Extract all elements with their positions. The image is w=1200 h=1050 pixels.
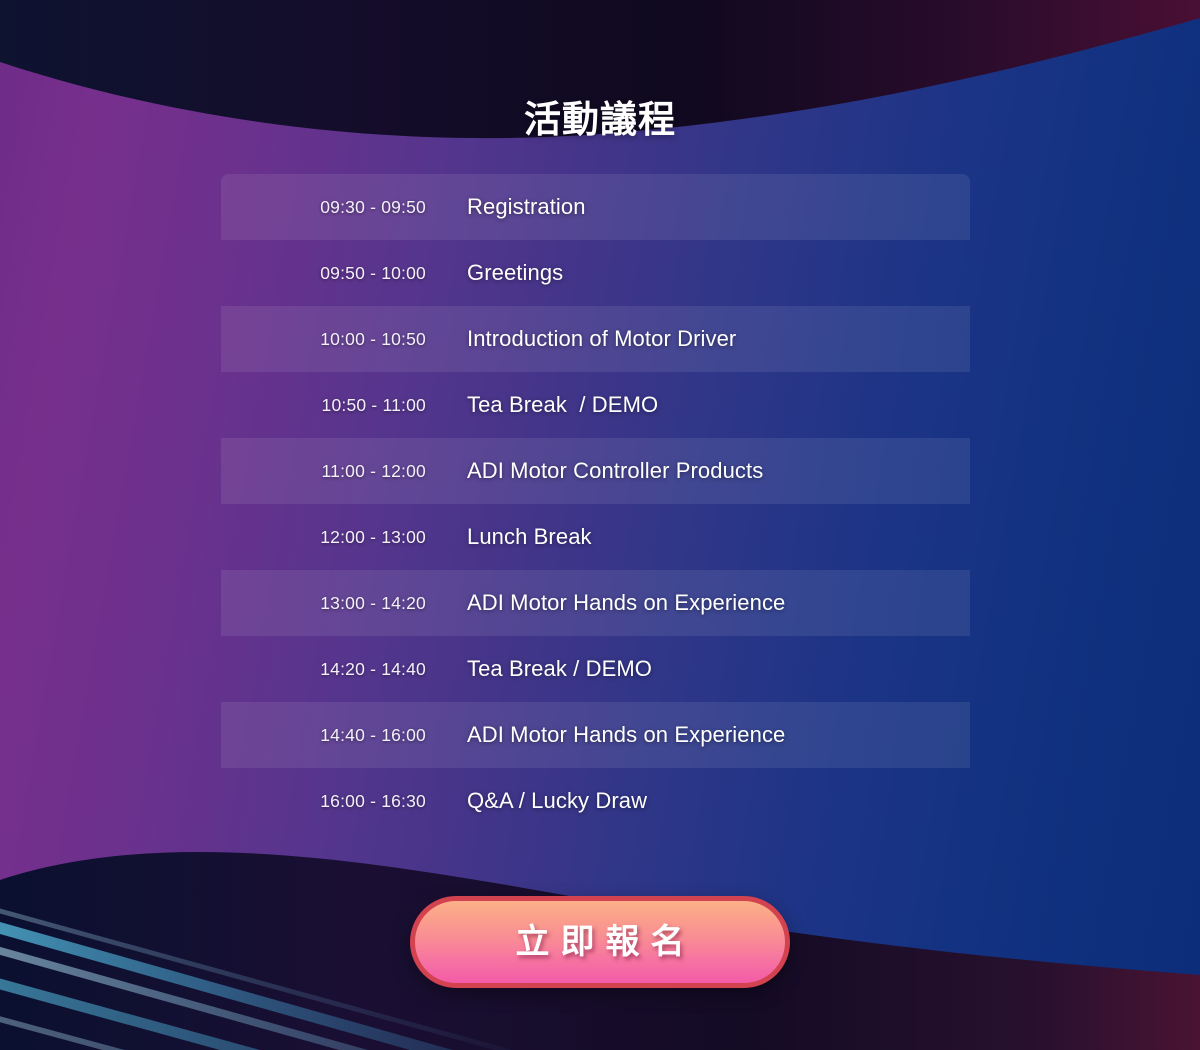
agenda-row-time: 14:40 - 16:00 xyxy=(221,725,467,746)
agenda-row-time: 13:00 - 14:20 xyxy=(221,593,467,614)
agenda-row-time: 10:00 - 10:50 xyxy=(221,329,467,350)
agenda-row-title: ADI Motor Hands on Experience xyxy=(467,722,970,748)
cta-container: 立即報名 xyxy=(0,896,1200,988)
agenda-row-title: ADI Motor Hands on Experience xyxy=(467,590,970,616)
agenda-row: 14:20 - 14:40Tea Break / DEMO xyxy=(221,636,970,702)
agenda-row-time: 16:00 - 16:30 xyxy=(221,791,467,812)
agenda-row: 09:50 - 10:00Greetings xyxy=(221,240,970,306)
agenda-row: 09:30 - 09:50Registration xyxy=(221,174,970,240)
agenda-row: 13:00 - 14:20ADI Motor Hands on Experien… xyxy=(221,570,970,636)
agenda-row-time: 14:20 - 14:40 xyxy=(221,659,467,680)
register-now-button[interactable]: 立即報名 xyxy=(410,896,790,988)
agenda-row: 12:00 - 13:00Lunch Break xyxy=(221,504,970,570)
agenda-row-title: Registration xyxy=(467,194,970,220)
agenda-row-time: 09:30 - 09:50 xyxy=(221,197,467,218)
agenda-table: 09:30 - 09:50Registration09:50 - 10:00Gr… xyxy=(221,174,970,834)
agenda-poster: 活動議程 09:30 - 09:50Registration09:50 - 10… xyxy=(0,0,1200,1050)
register-now-label: 立即報名 xyxy=(505,925,696,959)
agenda-row-title: Introduction of Motor Driver xyxy=(467,326,970,352)
agenda-row-time: 10:50 - 11:00 xyxy=(221,395,467,416)
agenda-row-time: 12:00 - 13:00 xyxy=(221,527,467,548)
agenda-row: 11:00 - 12:00ADI Motor Controller Produc… xyxy=(221,438,970,504)
agenda-row-title: Lunch Break xyxy=(467,524,970,550)
agenda-row: 14:40 - 16:00ADI Motor Hands on Experien… xyxy=(221,702,970,768)
agenda-row-title: Greetings xyxy=(467,260,970,286)
agenda-row: 16:00 - 16:30Q&A / Lucky Draw xyxy=(221,768,970,834)
agenda-row: 10:50 - 11:00Tea Break / DEMO xyxy=(221,372,970,438)
page-title: 活動議程 xyxy=(0,99,1200,142)
agenda-row: 10:00 - 10:50Introduction of Motor Drive… xyxy=(221,306,970,372)
agenda-row-time: 11:00 - 12:00 xyxy=(221,461,467,482)
agenda-row-title: Tea Break / DEMO xyxy=(467,656,970,682)
agenda-row-title: Q&A / Lucky Draw xyxy=(467,788,970,814)
agenda-row-title: ADI Motor Controller Products xyxy=(467,458,970,484)
agenda-row-time: 09:50 - 10:00 xyxy=(221,263,467,284)
agenda-row-title: Tea Break / DEMO xyxy=(467,392,970,418)
